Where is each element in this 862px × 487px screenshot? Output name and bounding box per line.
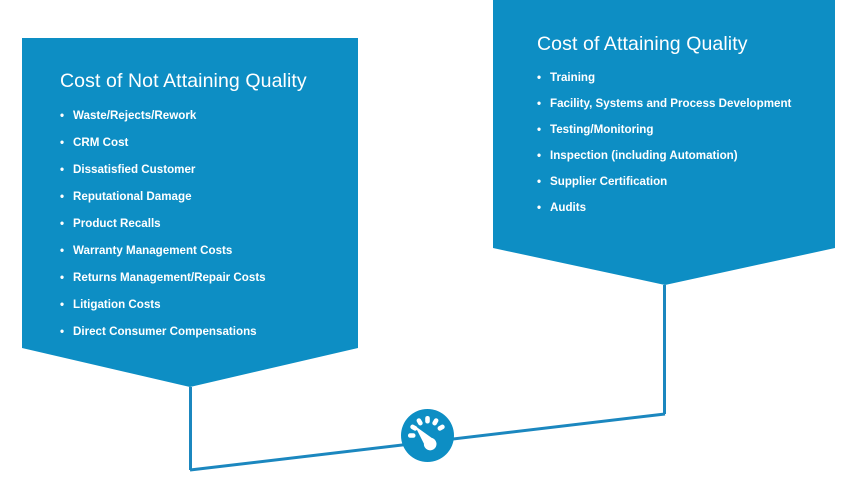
bullet-dot: • [60, 299, 64, 311]
list-item: • Inspection (including Automation) [537, 150, 827, 162]
list-item-label: Warranty Management Costs [73, 244, 232, 257]
right-panel-content: Cost of Attaining Quality • Training • F… [537, 33, 827, 228]
bullet-dot: • [537, 72, 541, 84]
list-item-label: Litigation Costs [73, 298, 161, 311]
list-item: • Litigation Costs [60, 299, 350, 311]
list-item: • Returns Management/Repair Costs [60, 272, 350, 284]
bullet-dot: • [537, 124, 541, 136]
bullet-dot: • [60, 191, 64, 203]
left-panel-list: • Waste/Rejects/Rework • CRM Cost • Diss… [60, 110, 350, 337]
bullet-dot: • [537, 98, 541, 110]
list-item-label: Training [550, 71, 595, 84]
list-item-label: Returns Management/Repair Costs [73, 271, 266, 284]
bullet-dot: • [60, 218, 64, 230]
list-item-label: Supplier Certification [550, 175, 667, 188]
list-item-label: Audits [550, 201, 586, 214]
bullet-dot: • [537, 202, 541, 214]
right-panel-list: • Training • Facility, Systems and Proce… [537, 72, 827, 213]
diagram-canvas: Cost of Not Attaining Quality • Waste/Re… [0, 0, 862, 487]
list-item: • Waste/Rejects/Rework [60, 110, 350, 122]
list-item-label: Waste/Rejects/Rework [73, 109, 196, 122]
list-item: • Product Recalls [60, 218, 350, 230]
list-item-label: Direct Consumer Compensations [73, 325, 257, 338]
bullet-dot: • [60, 272, 64, 284]
list-item: • Training [537, 72, 827, 84]
list-item-label: Reputational Damage [73, 190, 192, 203]
list-item-label: Inspection (including Automation) [550, 149, 738, 162]
list-item: • Testing/Monitoring [537, 124, 827, 136]
list-item: • CRM Cost [60, 137, 350, 149]
gauge-icon[interactable] [401, 409, 454, 462]
bullet-dot: • [60, 245, 64, 257]
bullet-dot: • [60, 137, 64, 149]
list-item-label: Testing/Monitoring [550, 123, 653, 136]
bullet-dot: • [60, 326, 64, 338]
list-item: • Warranty Management Costs [60, 245, 350, 257]
bullet-dot: • [537, 176, 541, 188]
left-panel-title: Cost of Not Attaining Quality [60, 70, 350, 93]
list-item: • Reputational Damage [60, 191, 350, 203]
bullet-dot: • [537, 150, 541, 162]
list-item: • Supplier Certification [537, 176, 827, 188]
list-item: • Direct Consumer Compensations [60, 326, 350, 338]
bullet-dot: • [60, 164, 64, 176]
list-item: • Audits [537, 202, 827, 214]
bullet-dot: • [60, 110, 64, 122]
list-item-label: CRM Cost [73, 136, 128, 149]
list-item-label: Product Recalls [73, 217, 161, 230]
list-item-label: Dissatisfied Customer [73, 163, 195, 176]
right-panel-title: Cost of Attaining Quality [537, 33, 827, 56]
left-panel-content: Cost of Not Attaining Quality • Waste/Re… [60, 70, 350, 352]
list-item: • Facility, Systems and Process Developm… [537, 98, 827, 110]
list-item-label: Facility, Systems and Process Developmen… [550, 97, 791, 110]
list-item: • Dissatisfied Customer [60, 164, 350, 176]
